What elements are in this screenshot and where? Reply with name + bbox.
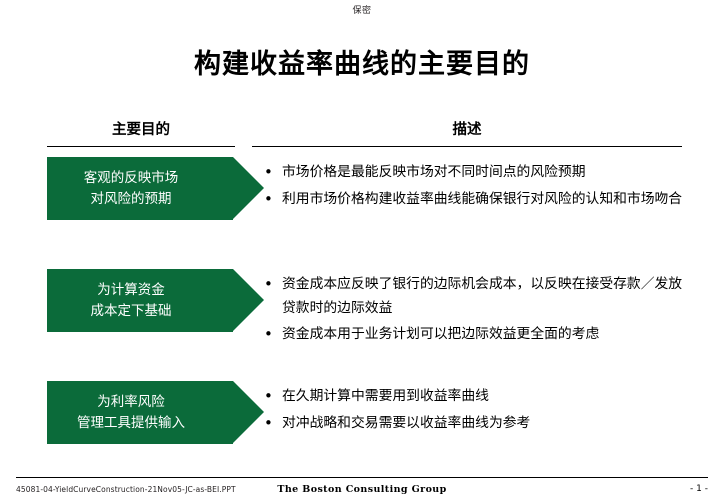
description-bullets: 市场价格是最能反映市场对不同时间点的风险预期 利用市场价格构建收益率曲线能确保银… — [262, 161, 692, 214]
footer-divider — [16, 477, 708, 478]
description-bullets: 资金成本应反映了银行的边际机会成本，以反映在接受存款／发放贷款时的边际效益 资金… — [262, 273, 692, 350]
purpose-arrow-label: 客观的反映市场 对风险的预期 — [47, 157, 233, 220]
column-header-description: 描述 — [252, 118, 682, 147]
column-header-purpose: 主要目的 — [47, 118, 235, 147]
slide: 保密 构建收益率曲线的主要目的 主要目的 描述 客观的反映市场 对风险的预期 市… — [0, 0, 724, 502]
table-row: 客观的反映市场 对风险的预期 市场价格是最能反映市场对不同时间点的风险预期 利用… — [0, 157, 724, 269]
purpose-label-line: 管理工具提供输入 — [77, 413, 185, 434]
list-item: 对冲战略和交易需要以收益率曲线为参考 — [262, 412, 692, 436]
footer-page-number: - 1 - — [690, 484, 708, 494]
content-rows: 客观的反映市场 对风险的预期 市场价格是最能反映市场对不同时间点的风险预期 利用… — [0, 157, 724, 461]
list-item: 利用市场价格构建收益率曲线能确保银行对风险的认知和市场吻合 — [262, 188, 692, 212]
arrow-tip-icon — [233, 381, 264, 443]
confidential-marking: 保密 — [0, 3, 724, 16]
table-row: 为计算资金 成本定下基础 资金成本应反映了银行的边际机会成本，以反映在接受存款／… — [0, 269, 724, 381]
list-item: 资金成本应反映了银行的边际机会成本，以反映在接受存款／发放贷款时的边际效益 — [262, 273, 692, 320]
purpose-arrow-label: 为利率风险 管理工具提供输入 — [47, 381, 233, 444]
list-item: 市场价格是最能反映市场对不同时间点的风险预期 — [262, 161, 692, 185]
table-row: 为利率风险 管理工具提供输入 在久期计算中需要用到收益率曲线 对冲战略和交易需要… — [0, 381, 724, 461]
purpose-arrow-label: 为计算资金 成本定下基础 — [47, 269, 233, 332]
purpose-label-line: 客观的反映市场 — [84, 168, 179, 189]
purpose-label-line: 为计算资金 — [97, 280, 165, 301]
description-bullets: 在久期计算中需要用到收益率曲线 对冲战略和交易需要以收益率曲线为参考 — [262, 385, 692, 438]
page-title: 构建收益率曲线的主要目的 — [0, 42, 724, 81]
purpose-label-line: 对风险的预期 — [91, 189, 172, 210]
list-item: 在久期计算中需要用到收益率曲线 — [262, 385, 692, 409]
arrow-tip-icon — [233, 157, 264, 219]
arrow-tip-icon — [233, 269, 264, 331]
footer-company-name: The Boston Consulting Group — [0, 484, 724, 495]
purpose-label-line: 为利率风险 — [97, 392, 165, 413]
purpose-label-line: 成本定下基础 — [91, 301, 172, 322]
list-item: 资金成本用于业务计划可以把边际效益更全面的考虑 — [262, 323, 692, 347]
